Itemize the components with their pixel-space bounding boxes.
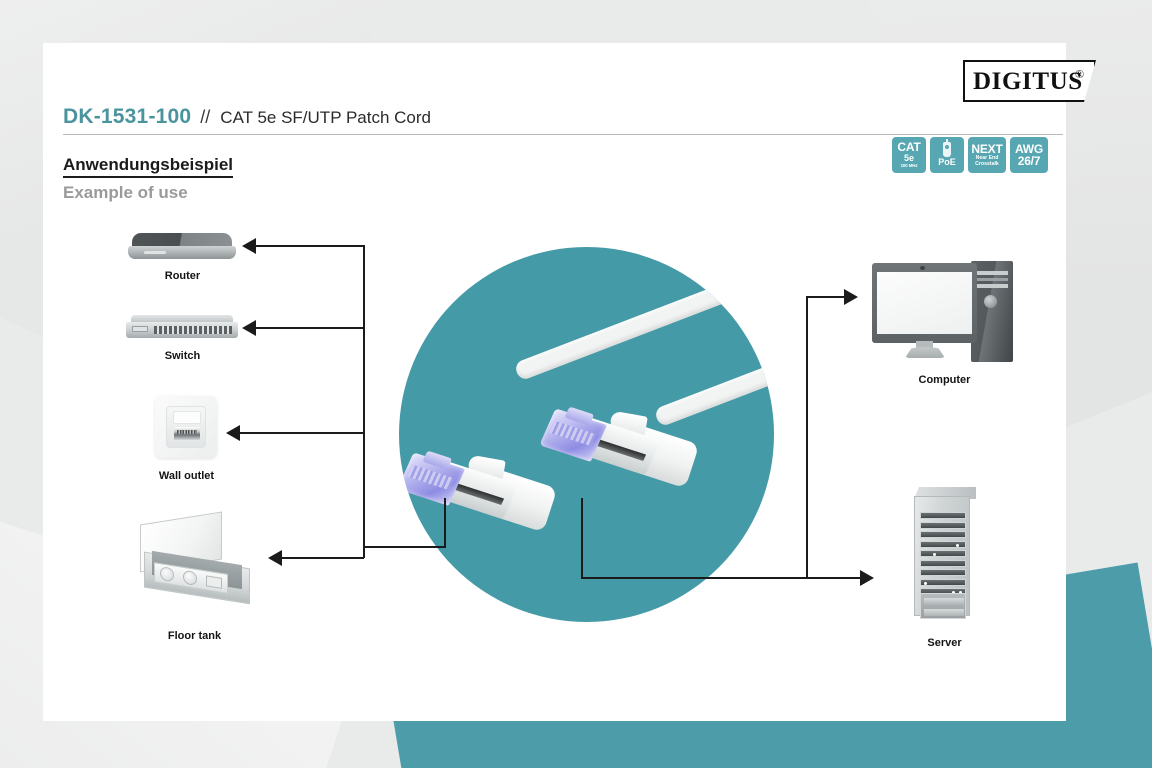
server-panel-slot-2 bbox=[924, 609, 964, 616]
router-led-strip bbox=[144, 251, 166, 254]
server-led bbox=[956, 544, 959, 547]
computer-label: Computer bbox=[882, 374, 1007, 386]
server-bay bbox=[920, 560, 966, 567]
arrow-server bbox=[860, 570, 874, 586]
server-bay bbox=[920, 541, 966, 548]
line-left-plug-to-bus bbox=[363, 546, 446, 548]
floor-tank-socket-1 bbox=[160, 566, 174, 582]
line-to-router bbox=[256, 245, 364, 247]
server-panel-slot-1 bbox=[924, 598, 964, 605]
server-chassis bbox=[914, 496, 970, 616]
rj45-connector-left bbox=[399, 438, 559, 540]
switch-label: Switch bbox=[120, 350, 245, 362]
cable-strand-upper bbox=[514, 247, 774, 381]
floor-tank-label: Floor tank bbox=[132, 630, 257, 642]
switch-icon bbox=[126, 315, 238, 341]
computer-icon bbox=[872, 263, 1012, 363]
server-bay bbox=[920, 522, 966, 529]
computer-webcam-icon bbox=[920, 266, 925, 270]
switch-uplink-port bbox=[132, 326, 148, 332]
server-bay bbox=[920, 512, 966, 519]
arrow-router bbox=[242, 238, 256, 254]
router-label: Router bbox=[120, 270, 245, 282]
line-to-computer bbox=[806, 296, 846, 298]
router-icon bbox=[128, 233, 236, 261]
floor-tank-data-port bbox=[206, 575, 222, 589]
server-bay bbox=[920, 550, 966, 557]
line-left-plug-drop bbox=[444, 498, 446, 548]
server-bay bbox=[920, 569, 966, 576]
computer-tower bbox=[971, 261, 1013, 362]
line-to-floor-tank bbox=[282, 557, 364, 559]
application-diagram: Router Switch Wall outlet Floor t bbox=[0, 0, 1152, 768]
line-to-wall-outlet bbox=[240, 432, 364, 434]
line-left-vertical-bus bbox=[363, 245, 365, 558]
wall-outlet-icon bbox=[155, 396, 217, 458]
switch-port-array bbox=[154, 326, 232, 334]
server-front-panel bbox=[920, 593, 966, 619]
computer-tower-bay-3 bbox=[976, 284, 1008, 288]
computer-tower-bay-1 bbox=[976, 271, 1008, 275]
arrow-floor-tank bbox=[268, 550, 282, 566]
wall-outlet-label: Wall outlet bbox=[124, 470, 249, 482]
computer-screen bbox=[877, 272, 972, 334]
arrow-switch bbox=[242, 320, 256, 336]
line-right-vertical-bus bbox=[806, 296, 808, 579]
computer-monitor bbox=[872, 263, 977, 343]
wall-outlet-slot bbox=[173, 411, 201, 424]
server-bay bbox=[920, 531, 966, 538]
computer-monitor-base bbox=[905, 347, 945, 358]
floor-tank-socket-2 bbox=[183, 570, 197, 586]
arrow-wall-outlet bbox=[226, 425, 240, 441]
server-bay bbox=[920, 579, 966, 586]
server-led bbox=[933, 553, 936, 556]
server-label: Server bbox=[882, 637, 1007, 649]
floor-tank-icon bbox=[138, 518, 254, 604]
computer-tower-bay-2 bbox=[976, 278, 1008, 281]
line-to-server bbox=[806, 577, 862, 579]
line-right-plug-drop bbox=[581, 498, 583, 578]
page-root: DIGITUS ® DK-1531-100//CAT 5e SF/UTP Pat… bbox=[0, 0, 1152, 768]
server-led bbox=[924, 582, 927, 585]
computer-power-knob bbox=[984, 295, 997, 308]
wall-outlet-faceplate bbox=[166, 406, 206, 448]
arrow-computer bbox=[844, 289, 858, 305]
wall-outlet-rj45-port bbox=[174, 427, 200, 440]
line-right-plug-to-bus bbox=[581, 577, 807, 579]
server-icon bbox=[914, 487, 976, 617]
patch-cord-photo bbox=[399, 247, 774, 622]
line-to-switch bbox=[256, 327, 364, 329]
